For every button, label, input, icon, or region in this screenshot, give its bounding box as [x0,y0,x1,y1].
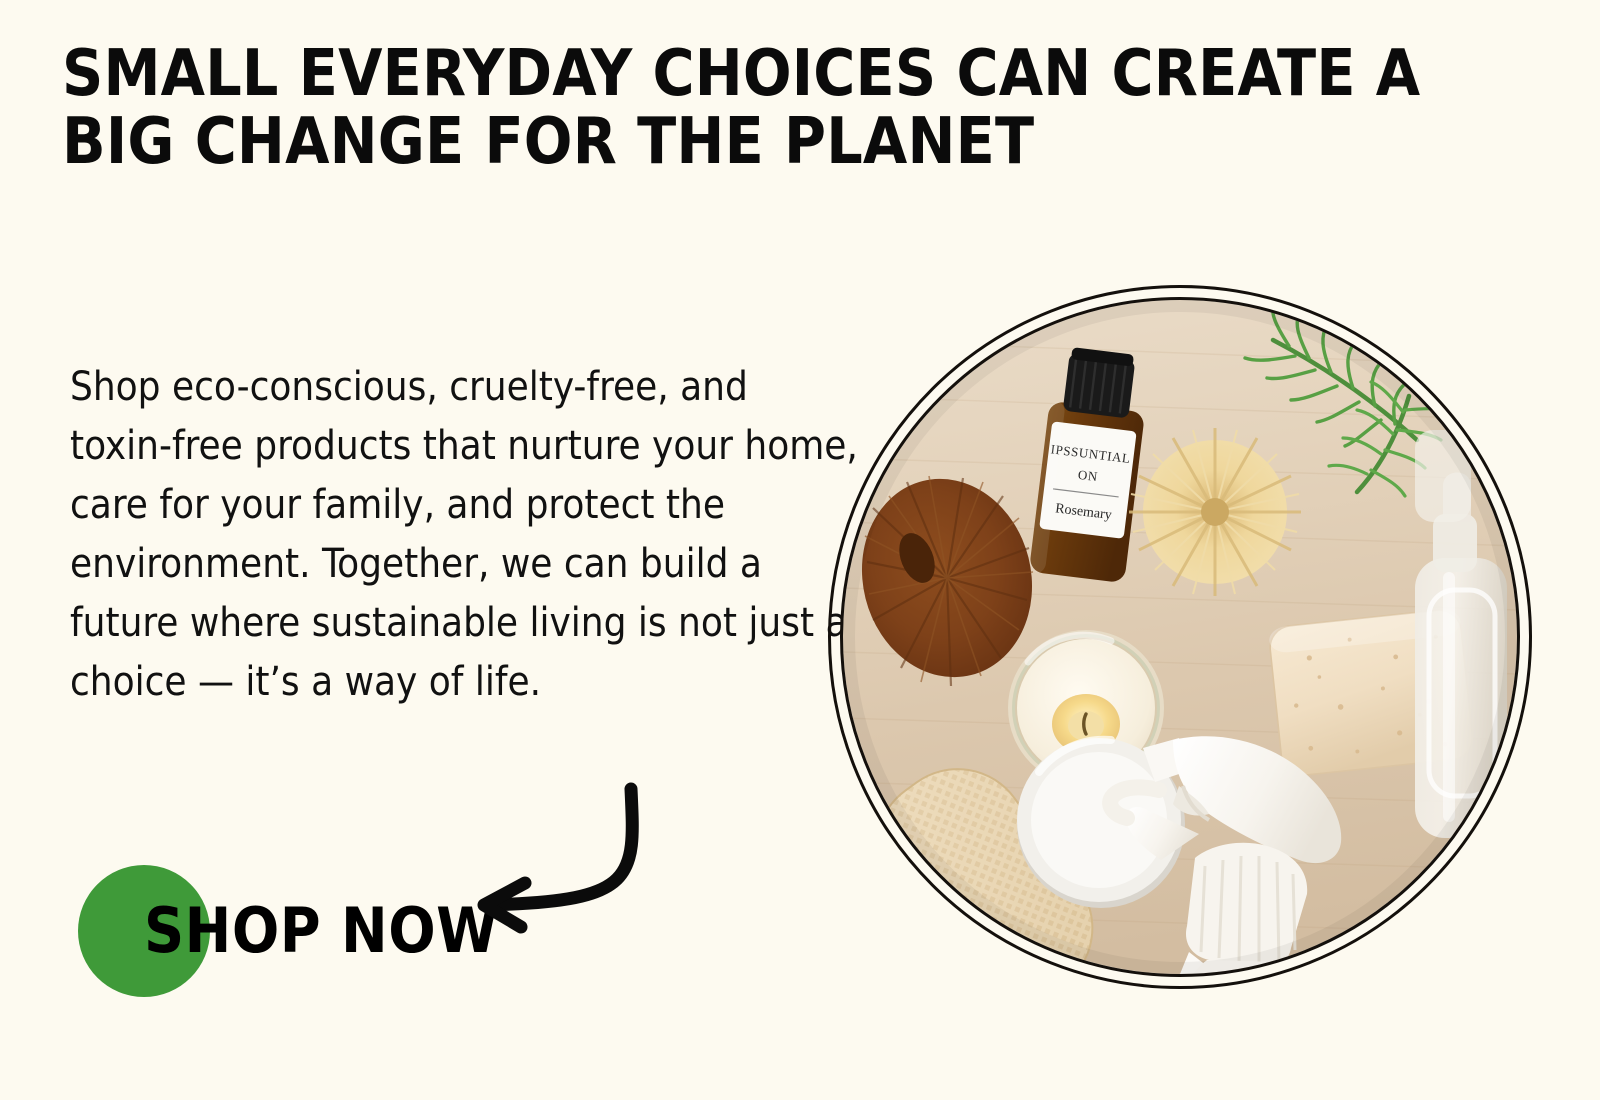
clear-pump-bottle [1415,430,1507,838]
shop-now-label: SHOP NOW [144,890,498,972]
curved-arrow-left-icon [455,775,670,940]
promo-banner: SMALL EVERYDAY CHOICES CAN CREATE A BIG … [0,0,1600,1100]
product-photo-clip: IPSSUNTIAL ON Rosemary [843,300,1517,974]
product-photo: IPSSUNTIAL ON Rosemary [828,285,1532,989]
body-paragraph: Shop eco-conscious, cruelty-free, and to… [70,358,860,712]
page-title: SMALL EVERYDAY CHOICES CAN CREATE A BIG … [62,40,1495,176]
product-photo-illustration: IPSSUNTIAL ON Rosemary [843,300,1517,974]
bottle-label-line2: ON [1077,467,1099,484]
